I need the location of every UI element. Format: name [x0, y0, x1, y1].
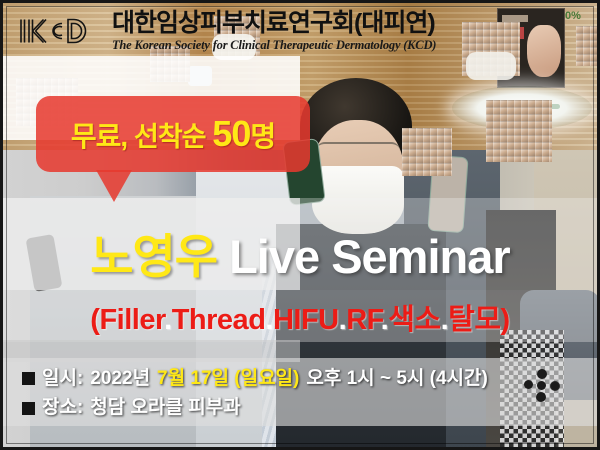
blurred-face: [402, 128, 452, 176]
badge-text: 무료, 선착순 50명: [71, 113, 275, 155]
topic-item: 탈모: [448, 304, 500, 336]
kcd-logo-icon: [16, 13, 102, 49]
free-seats-badge: 무료, 선착순 50명: [36, 96, 310, 172]
place-line: 장소: 청담 오라클 피부과: [22, 393, 578, 422]
seminar-poster: 0%: [0, 0, 600, 450]
date-line: 일시: 2022년 7월 17일 (일요일) 오후 1시 ~ 5시 (4시간): [22, 364, 578, 393]
face-mask: [466, 52, 516, 80]
close-paren: ): [501, 304, 510, 336]
place-value: 청담 오라클 피부과: [90, 393, 240, 422]
badge-free-label: 무료,: [71, 121, 127, 152]
topic-item: RF: [346, 304, 380, 336]
header: 대한임상피부치료연구회(대피연) The Korean Society for …: [8, 6, 592, 56]
info-block: 일시: 2022년 7월 17일 (일요일) 오후 1시 ~ 5시 (4시간) …: [22, 364, 578, 423]
organization-name-en: The Korean Society for Clinical Therapeu…: [112, 39, 436, 52]
topics-line: (Filler.Thread.HIFU.RF.색소.탈모): [0, 296, 600, 338]
bullet-square-icon: [22, 402, 35, 415]
page-title: 노영우 Live Seminar: [0, 218, 600, 287]
organization-name-ko: 대한임상피부치료연구회(대피연): [112, 11, 436, 36]
topic-separator: .: [164, 304, 172, 336]
place-label: 장소:: [42, 393, 83, 422]
badge-first-come-label: 선착순: [134, 122, 206, 152]
event-name: Live Seminar: [229, 230, 510, 283]
topic-separator: .: [265, 304, 273, 336]
eyeglasses-icon: [316, 142, 400, 162]
date-highlight: 7월 17일 (일요일): [157, 364, 299, 393]
topic-item: Thread: [172, 304, 266, 336]
braille-dots-icon: [524, 368, 566, 402]
topic-item: Filler: [99, 304, 164, 336]
date-time: 오후 1시 ~ 5시 (4시간): [306, 364, 487, 393]
badge-tail: [96, 170, 132, 202]
speaker-name: 노영우: [90, 230, 217, 283]
topic-item: HIFU: [273, 304, 339, 336]
topic-item: 색소: [388, 304, 440, 336]
date-year: 2022년: [90, 364, 150, 393]
badge-count-unit: 명: [250, 121, 275, 152]
badge-count: 50: [212, 113, 250, 154]
bullet-square-icon: [22, 372, 35, 385]
date-label: 일시:: [42, 364, 83, 393]
blurred-face: [486, 100, 552, 162]
